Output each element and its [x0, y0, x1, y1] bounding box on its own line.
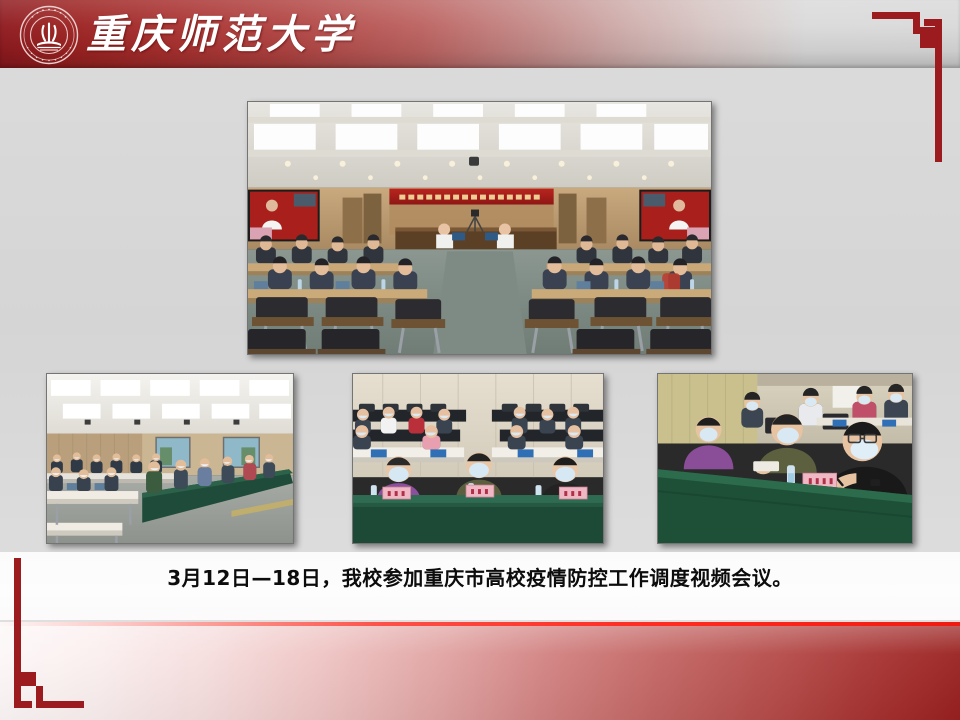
slide-caption: 3月12日—18日，我校参加重庆市高校疫情防控工作调度视频会议。 [0, 562, 960, 591]
photo-attendees-taking-notes [657, 373, 913, 544]
university-name-title: 重庆师范大学 [86, 8, 356, 62]
attendees-taking-notes-illustration [658, 374, 912, 544]
meeting-room-wide-illustration [47, 374, 293, 544]
university-seal-icon [19, 5, 79, 65]
photo-attendees-front-row [352, 373, 604, 544]
corner-ornament-top-right-icon [872, 12, 946, 162]
attendees-front-row-illustration [353, 374, 603, 544]
conference-hall-illustration [248, 102, 711, 355]
photo-main-conference-hall [247, 101, 712, 355]
presentation-slide: 重庆师范大学 [0, 0, 960, 720]
photo-meeting-room-wide [46, 373, 294, 544]
footer-accent-line [0, 622, 960, 626]
footer-gradient-band [0, 622, 960, 720]
corner-ornament-bottom-left-icon [14, 558, 88, 708]
